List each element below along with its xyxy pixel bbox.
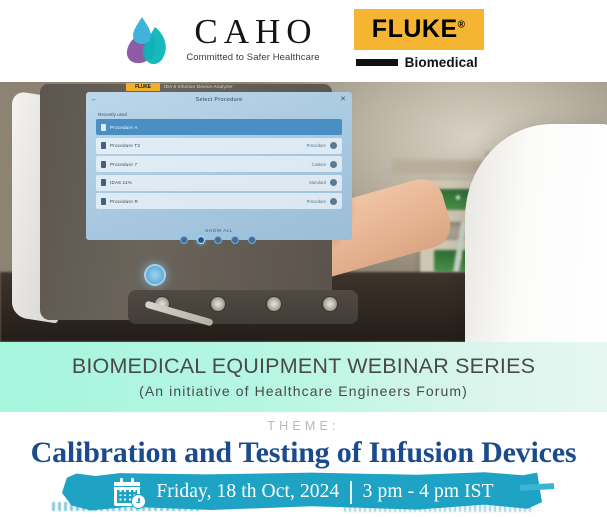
fluke-name: FLUKE bbox=[372, 15, 458, 43]
document-icon bbox=[101, 161, 106, 168]
banner-subtitle: (An initiative of Healthcare Engineers F… bbox=[139, 383, 468, 399]
list-item-meta: Procedure bbox=[307, 143, 326, 148]
device-touchscreen[interactable]: ← Select Procedure ✕ Recently used Proce… bbox=[86, 92, 352, 240]
caho-tagline: Committed to Safer Healthcare bbox=[186, 52, 319, 63]
list-item-meta: Custom bbox=[312, 162, 326, 167]
nav-dot[interactable] bbox=[180, 236, 188, 244]
close-icon[interactable]: ✕ bbox=[340, 95, 346, 103]
webinar-series-banner: BIOMEDICAL EQUIPMENT WEBINAR SERIES (An … bbox=[0, 342, 607, 412]
screen-nav-dots[interactable] bbox=[180, 236, 256, 244]
more-options-icon[interactable] bbox=[330, 179, 337, 186]
logo-header: CAHO Committed to Safer Healthcare FLUKE… bbox=[0, 0, 607, 82]
device-model-text: IDA 6 Infusion Device Analyzer bbox=[164, 84, 233, 89]
more-options-icon[interactable] bbox=[330, 142, 337, 149]
schedule-time: 3 pm - 4 pm IST bbox=[363, 481, 494, 503]
schedule-band: Friday, 18 th Oct, 2024 3 pm - 4 pm IST bbox=[62, 471, 542, 513]
hero-photo: FLUKE IDA 6 Infusion Device Analyzer ← S… bbox=[0, 82, 607, 342]
list-item-label: Procedure T2 bbox=[110, 143, 140, 148]
device-fluke-badge: FLUKE bbox=[126, 83, 160, 91]
procedure-list[interactable]: Procedure A Procedure T2 Procedure Proce… bbox=[96, 119, 342, 212]
fluke-logo-box: FLUKE® bbox=[354, 9, 484, 50]
device-body: FLUKE IDA 6 Infusion Device Analyzer ← S… bbox=[40, 84, 332, 320]
clock-hand-hour bbox=[136, 502, 140, 504]
list-item-meta: Procedure bbox=[307, 199, 326, 204]
document-icon bbox=[101, 124, 106, 131]
nav-dot[interactable] bbox=[214, 236, 222, 244]
schedule-date: Friday, 18 th Oct, 2024 bbox=[156, 481, 339, 503]
fluke-biomedical-logo: FLUKE® Biomedical bbox=[354, 9, 484, 70]
device-port bbox=[322, 296, 338, 312]
more-options-icon[interactable] bbox=[330, 198, 337, 205]
more-options-icon[interactable] bbox=[330, 161, 337, 168]
caho-name: CAHO bbox=[188, 15, 317, 49]
list-item[interactable]: Procedure T2 Procedure bbox=[96, 138, 342, 154]
list-item-label: Procedure A bbox=[110, 125, 137, 130]
show-all-button[interactable]: SHOW ALL bbox=[86, 229, 352, 234]
fluke-registered-icon: ® bbox=[458, 19, 466, 30]
caho-wordmark: CAHO Committed to Safer Healthcare bbox=[186, 15, 319, 63]
list-item-label: Procedure 7 bbox=[110, 162, 137, 167]
caho-droplet-leaf-icon bbox=[123, 11, 177, 67]
device-port bbox=[266, 296, 282, 312]
banner-title: BIOMEDICAL EQUIPMENT WEBINAR SERIES bbox=[72, 355, 535, 379]
document-icon bbox=[101, 142, 106, 149]
list-item[interactable]: Procedure 7 Custom bbox=[96, 156, 342, 172]
clock-face bbox=[131, 494, 146, 509]
screen-section-label: Recently used bbox=[98, 112, 127, 117]
theme-title: Calibration and Testing of Infusion Devi… bbox=[31, 436, 577, 470]
screen-title: Select Procedure bbox=[86, 92, 352, 108]
list-item-label: Procedure R bbox=[110, 199, 138, 204]
list-item[interactable]: Procedure A bbox=[96, 119, 342, 135]
nav-dot-active[interactable] bbox=[197, 236, 205, 244]
schedule-separator bbox=[350, 481, 351, 504]
infusion-device-analyzer: FLUKE IDA 6 Infusion Device Analyzer ← S… bbox=[12, 84, 332, 334]
power-button[interactable] bbox=[144, 264, 166, 286]
calendar-clock-icon bbox=[114, 478, 145, 507]
calendar-header-bar bbox=[114, 482, 140, 488]
fluke-wordmark: FLUKE® bbox=[372, 17, 466, 42]
document-icon bbox=[101, 198, 106, 205]
caho-logo: CAHO Committed to Safer Healthcare bbox=[123, 11, 319, 67]
nav-dot[interactable] bbox=[231, 236, 239, 244]
theme-kicker: THEME: bbox=[267, 419, 339, 433]
lab-coat bbox=[465, 124, 607, 342]
fluke-subtitle-row: Biomedical bbox=[354, 55, 484, 70]
list-item[interactable]: IDA6 11% Standard bbox=[96, 175, 342, 191]
document-icon bbox=[101, 179, 106, 186]
nav-dot[interactable] bbox=[248, 236, 256, 244]
fluke-rule-divider bbox=[356, 59, 398, 66]
fluke-subtitle: Biomedical bbox=[405, 55, 478, 70]
device-port bbox=[210, 296, 226, 312]
list-item[interactable]: Procedure R Procedure bbox=[96, 193, 342, 209]
list-item-label: IDA6 11% bbox=[110, 180, 132, 185]
list-item-meta: Standard bbox=[309, 180, 326, 185]
schedule-content: Friday, 18 th Oct, 2024 3 pm - 4 pm IST bbox=[62, 471, 542, 513]
